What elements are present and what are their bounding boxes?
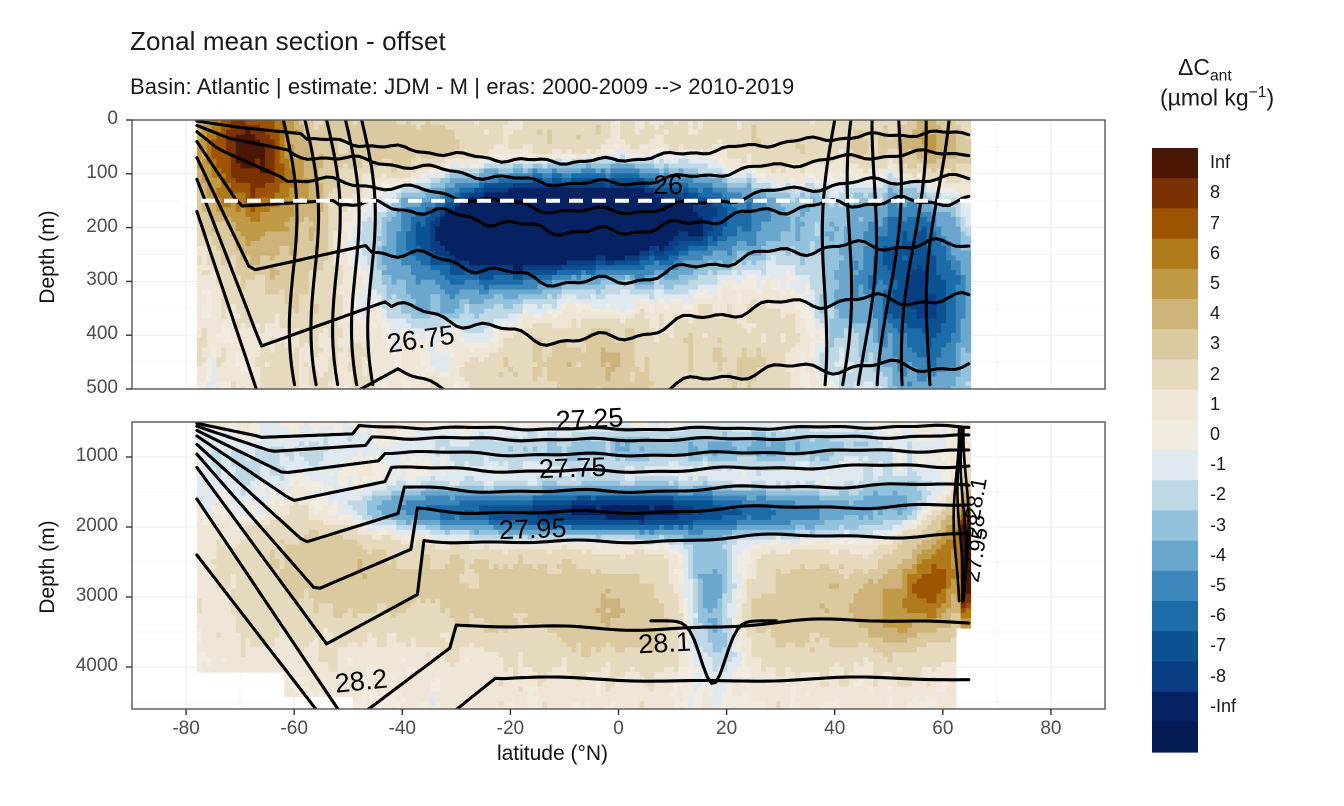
x-tick-label: -80 bbox=[156, 718, 216, 740]
colorbar-band bbox=[1152, 178, 1198, 209]
colorbar-band bbox=[1152, 631, 1198, 662]
contour-label: 26 bbox=[653, 170, 683, 200]
lower-y-tick-label: 2000 bbox=[38, 515, 118, 537]
colorbar-tick-label: -5 bbox=[1210, 575, 1226, 596]
upper-y-tick-label: 200 bbox=[38, 216, 118, 238]
colorbar-tick-label: 5 bbox=[1210, 273, 1220, 294]
x-tick-label: -20 bbox=[480, 718, 540, 740]
colorbar-band bbox=[1152, 269, 1198, 300]
colorbar-band bbox=[1152, 480, 1198, 511]
lower-panel bbox=[132, 422, 1105, 715]
colorbar-tick-label: 7 bbox=[1210, 213, 1220, 234]
colorbar-band bbox=[1152, 510, 1198, 541]
colorbar-band bbox=[1152, 541, 1198, 572]
x-tick-label: -40 bbox=[372, 718, 432, 740]
colorbar-band bbox=[1152, 390, 1198, 421]
upper-y-tick-label: 0 bbox=[38, 108, 118, 130]
colorbar-band bbox=[1152, 450, 1198, 481]
colorbar-tick-label: Inf bbox=[1210, 152, 1230, 173]
colorbar bbox=[1152, 148, 1212, 768]
colorbar-band bbox=[1152, 208, 1198, 239]
contour-label: 27.95 bbox=[498, 513, 567, 545]
legend-title-line1: ΔCant bbox=[1178, 54, 1232, 86]
colorbar-tick-label: 6 bbox=[1210, 243, 1220, 264]
colorbar-tick-label: 1 bbox=[1210, 394, 1220, 415]
colorbar-band bbox=[1152, 661, 1198, 692]
x-tick-label: 40 bbox=[805, 718, 865, 740]
x-tick-label: 60 bbox=[913, 718, 973, 740]
x-tick-label: 20 bbox=[697, 718, 757, 740]
x-axis-label: latitude (°N) bbox=[0, 742, 1105, 766]
upper-y-tick-label: 300 bbox=[38, 269, 118, 291]
colorbar-band bbox=[1152, 239, 1198, 270]
lower-y-tick-label: 1000 bbox=[38, 445, 118, 467]
contour-label: 27.25 bbox=[555, 402, 624, 435]
colorbar-band bbox=[1152, 722, 1198, 753]
contour-label: 28.1 bbox=[637, 627, 691, 660]
colorbar-tick-label: -4 bbox=[1210, 545, 1226, 566]
colorbar-tick-label: 2 bbox=[1210, 364, 1220, 385]
colorbar-band bbox=[1152, 329, 1198, 360]
legend-title-line2: (µmol kg−1) bbox=[1160, 84, 1274, 112]
colorbar-tick-label: -7 bbox=[1210, 635, 1226, 656]
colorbar-tick-label: 8 bbox=[1210, 182, 1220, 203]
colorbar-band bbox=[1152, 148, 1198, 179]
x-tick-label: 80 bbox=[1021, 718, 1081, 740]
colorbar-tick-label: 0 bbox=[1210, 424, 1220, 445]
colorbar-tick-label: -1 bbox=[1210, 454, 1226, 475]
colorbar-tick-label: -8 bbox=[1210, 666, 1226, 687]
lower-y-tick-label: 4000 bbox=[38, 655, 118, 677]
contour-label: 27.75 bbox=[538, 452, 607, 484]
colorbar-band bbox=[1152, 299, 1198, 330]
colorbar-band bbox=[1152, 359, 1198, 390]
lower-y-tick-label: 3000 bbox=[38, 585, 118, 607]
contour-label: 28.2 bbox=[333, 663, 388, 698]
colorbar-band bbox=[1152, 571, 1198, 602]
colorbar-band bbox=[1152, 601, 1198, 632]
colorbar-tick-label: -3 bbox=[1210, 515, 1226, 536]
upper-y-tick-label: 100 bbox=[38, 162, 118, 184]
zonal-mean-section-plot: 2626.7527.2527.7527.9528.128.228.12827.9… bbox=[0, 0, 1120, 740]
upper-y-tick-label: 500 bbox=[38, 377, 118, 399]
colorbar-tick-label: 4 bbox=[1210, 303, 1220, 324]
colorbar-tick-label: 3 bbox=[1210, 333, 1220, 354]
colorbar-band bbox=[1152, 692, 1198, 723]
x-tick-label: -60 bbox=[264, 718, 324, 740]
x-tick-label: 0 bbox=[589, 718, 649, 740]
colorbar-tick-label: -Inf bbox=[1210, 696, 1236, 717]
upper-y-tick-label: 400 bbox=[38, 323, 118, 345]
colorbar-tick-label: -2 bbox=[1210, 484, 1226, 505]
colorbar-band bbox=[1152, 420, 1198, 451]
upper-panel bbox=[132, 120, 1105, 419]
colorbar-tick-label: -6 bbox=[1210, 605, 1226, 626]
